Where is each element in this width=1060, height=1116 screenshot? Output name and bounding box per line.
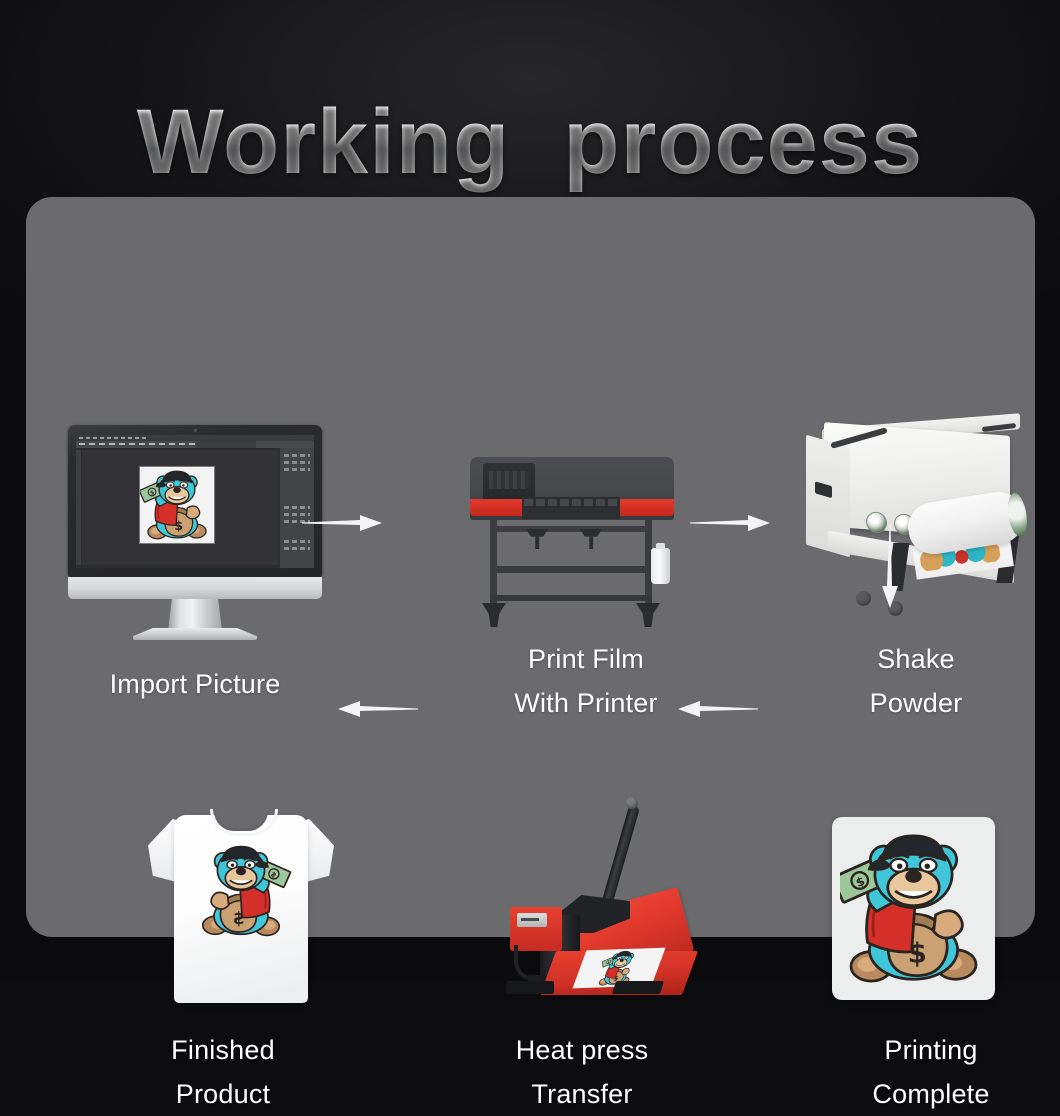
dtf-printer xyxy=(460,423,682,628)
photoshop-toolbar xyxy=(76,450,81,565)
shirt-print-artwork xyxy=(184,841,298,941)
monitor-bezel xyxy=(68,425,322,577)
workflow-panel: $ $ xyxy=(26,197,1035,937)
step-5-caption: Heat press Transfer xyxy=(466,1029,698,1116)
money-bear-icon xyxy=(184,841,298,941)
roll-end-cap xyxy=(1005,492,1030,538)
step-3-caption: Shake Powder xyxy=(816,638,1016,725)
printer-ink-station xyxy=(483,463,535,501)
photoshop-panels xyxy=(279,448,314,568)
webcam-icon xyxy=(194,429,197,432)
printer-waste-bottle xyxy=(651,548,670,584)
canvas-artwork xyxy=(140,467,214,543)
printer-knob-right[interactable] xyxy=(580,529,602,549)
heat-press-machine xyxy=(488,799,688,1004)
printer-caster-left xyxy=(482,603,506,627)
desktop-monitor xyxy=(68,425,322,625)
photoshop-document-tab xyxy=(196,441,256,448)
white-t-shirt xyxy=(148,803,334,1003)
printer-crossbar-lower xyxy=(490,595,652,601)
money-bear-icon xyxy=(140,467,214,543)
shaker-foot-pad-left xyxy=(856,591,871,606)
arrow-right-icon xyxy=(302,511,382,535)
heat-press-foot-right xyxy=(612,981,664,994)
step-1-caption: Import Picture xyxy=(74,663,316,707)
step-4-caption: Printing Complete xyxy=(816,1029,1046,1116)
arrow-left-icon xyxy=(338,697,418,721)
arrow-down-icon xyxy=(878,524,902,608)
heat-press-handle-knob[interactable] xyxy=(626,797,638,809)
step-2-caption: Print Film With Printer xyxy=(468,638,704,725)
printer-knob-left[interactable] xyxy=(526,529,548,549)
arrow-right-icon xyxy=(690,511,770,535)
monitor-stand-neck xyxy=(168,599,222,631)
printer-media-platen xyxy=(522,497,620,519)
money-bear-icon xyxy=(832,817,995,1000)
monitor-chin xyxy=(68,577,322,599)
printed-transfer-film xyxy=(832,817,995,1000)
arrow-left-icon xyxy=(678,697,758,721)
photoshop-options-bar xyxy=(76,441,314,448)
monitor-stand-base xyxy=(133,628,257,640)
printer-caster-right xyxy=(636,603,660,627)
powder-shaker-machine xyxy=(804,419,1036,619)
page-title: Working process xyxy=(137,88,923,197)
step-6-caption: Finished Product xyxy=(106,1029,340,1116)
monitor-screen xyxy=(76,435,314,568)
temperature-display xyxy=(517,913,547,927)
heat-press-foot-left xyxy=(506,981,554,994)
printer-shelf xyxy=(494,526,649,532)
page-header: Working process xyxy=(0,26,1060,166)
printer-crossbar-upper xyxy=(490,566,652,573)
